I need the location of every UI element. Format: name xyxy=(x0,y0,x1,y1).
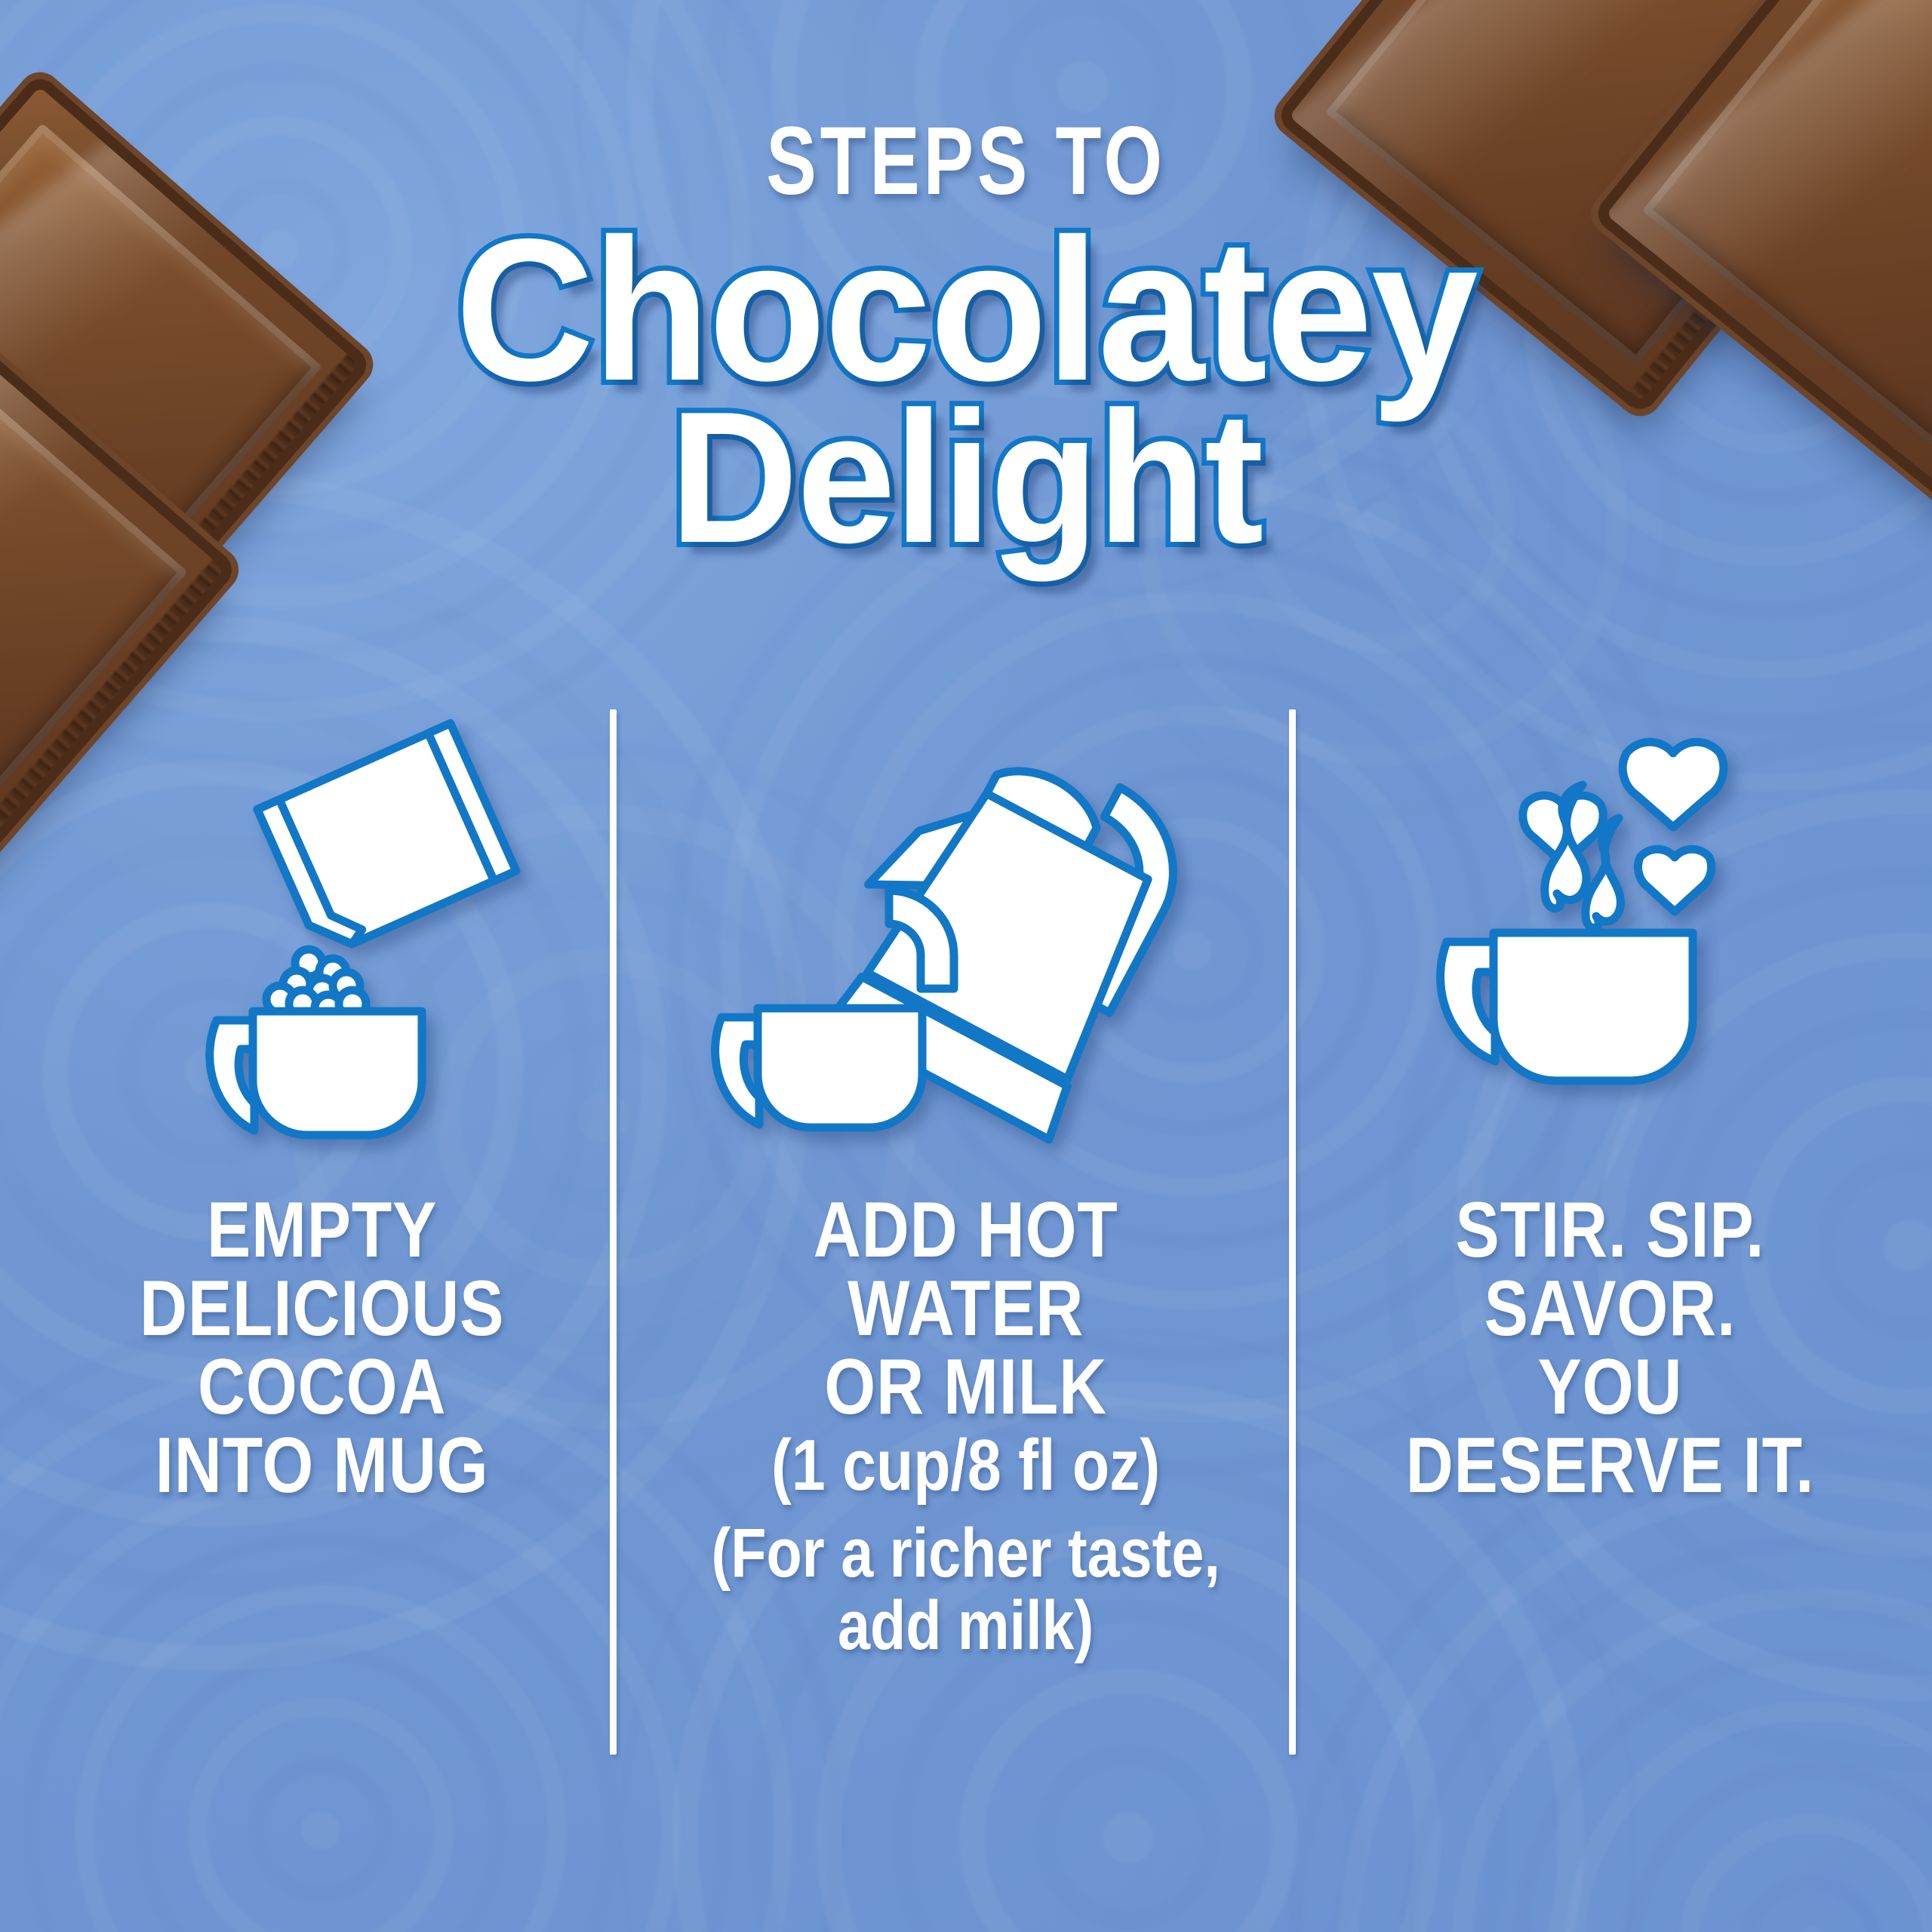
eyebrow-steps-to: STEPS TO xyxy=(213,113,1720,210)
step-1-caption-line-1: DELICIOUS xyxy=(140,1269,504,1348)
step-2-caption-line-1: OR MILK xyxy=(696,1348,1237,1426)
step-3-caption-line-1: SAVOR. xyxy=(1405,1269,1814,1348)
steaming-mug-with-hearts-icon xyxy=(1429,732,1791,1132)
steps-row: EMPTY DELICIOUS COCOA INTO MUG xyxy=(0,709,1932,1766)
step-1-caption-line-0: EMPTY xyxy=(140,1191,504,1269)
kettle-pouring-into-mug-icon xyxy=(694,732,1238,1132)
step-2-measure: (1 cup/8 fl oz) xyxy=(696,1429,1237,1502)
step-1-icon-wrap xyxy=(141,709,503,1132)
step-3-caption-line-0: STIR. SIP. xyxy=(1405,1191,1814,1269)
heart-icon-top xyxy=(1623,742,1724,827)
headline: Chocolatey Delight xyxy=(0,213,1932,567)
heart-icon-right xyxy=(1638,849,1712,912)
step-2-icon-wrap xyxy=(694,709,1238,1132)
step-3: STIR. SIP. SAVOR. YOU DESERVE IT. xyxy=(1288,709,1932,1766)
step-3-caption: STIR. SIP. SAVOR. YOU DESERVE IT. xyxy=(1405,1191,1814,1505)
mug-handle-icon xyxy=(209,1020,254,1131)
step-1: EMPTY DELICIOUS COCOA INTO MUG xyxy=(0,709,644,1766)
mug-body-icon xyxy=(1494,933,1693,1081)
step-3-caption-line-3: DESERVE IT. xyxy=(1405,1426,1814,1505)
poster-canvas: STEPS TO Chocolatey Delight xyxy=(0,0,1932,1932)
step-1-caption-line-3: INTO MUG xyxy=(140,1426,504,1505)
cocoa-packet-pouring-into-mug-icon xyxy=(141,740,503,1132)
step-2-caption-line-0: ADD HOT WATER xyxy=(696,1191,1237,1348)
headline-line-2: Delight xyxy=(48,387,1884,567)
mug-handle-icon xyxy=(715,1017,759,1124)
mug-body-icon xyxy=(758,1008,922,1128)
step-2-caption: ADD HOT WATER OR MILK (1 cup/8 fl oz) (F… xyxy=(696,1191,1237,1660)
step-3-caption-line-2: YOU xyxy=(1405,1348,1814,1426)
step-1-caption: EMPTY DELICIOUS COCOA INTO MUG xyxy=(140,1191,504,1505)
step-3-icon-wrap xyxy=(1429,709,1791,1132)
title-block: STEPS TO Chocolatey Delight xyxy=(0,113,1932,567)
mug-handle-icon xyxy=(1441,942,1495,1061)
step-1-caption-line-2: COCOA xyxy=(140,1348,504,1426)
step-2-note-line-1: add milk) xyxy=(696,1591,1237,1660)
mug-body-icon xyxy=(253,1011,422,1135)
step-2-note-line-0: (For a richer taste, xyxy=(696,1518,1237,1588)
step-2: ADD HOT WATER OR MILK (1 cup/8 fl oz) (F… xyxy=(644,709,1287,1766)
